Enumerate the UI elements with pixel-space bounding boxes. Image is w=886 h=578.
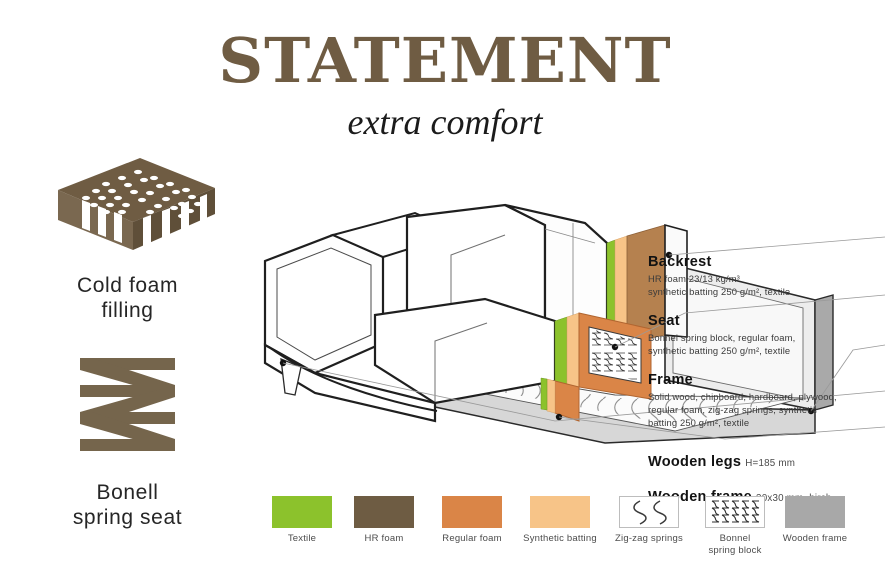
page-subtitle: extra comfort	[200, 104, 690, 140]
feature-cold-foam: Cold foam filling	[10, 150, 245, 324]
legend-label-line-1: Bonnel	[690, 533, 780, 545]
feature-caption-bonell: Bonell spring seat	[10, 481, 245, 531]
legend-label: Regular foam	[436, 533, 508, 545]
callout-body: Bonnel spring block, regular foam, synth…	[648, 331, 880, 358]
feature-caption-cold-foam: Cold foam filling	[10, 274, 245, 324]
legend-label: Textile	[272, 533, 332, 545]
infographic-page: STATEMENT extra comfort	[0, 0, 886, 578]
legend-item-zigzag-springs: Zig-zag springs	[606, 496, 692, 545]
callout-title: Frame	[648, 371, 880, 389]
feature-caption-line-2: filling	[10, 299, 245, 324]
legend-label: Bonnel spring block	[690, 533, 780, 557]
textile-swatch	[272, 496, 332, 528]
callout-line: synthetic batting 250 g/m², textile	[648, 344, 880, 357]
feature-caption-line-1: Cold foam	[10, 274, 245, 299]
callout-line: regular foam, zig-zag springs, synthetic	[648, 403, 880, 416]
callout-seat: Seat Bonnel spring block, regular foam, …	[648, 312, 880, 358]
synthetic-batting-swatch	[530, 496, 590, 528]
legend-item-hr-foam: HR foam	[354, 496, 414, 545]
legend-label-line-2: spring block	[690, 545, 780, 557]
zigzag-spring-icon	[10, 352, 245, 467]
callout-body: Solid wood, chipboard, hardboard, plywoo…	[648, 390, 880, 430]
legend-label: Wooden frame	[768, 533, 862, 545]
callout-line: Bonnel spring block, regular foam,	[648, 331, 880, 344]
legend-item-bonnel-spring-block: Bonnel spring block	[690, 496, 780, 557]
wooden-frame-swatch	[785, 496, 845, 528]
callout-title: Backrest	[648, 253, 880, 271]
callout-line: synthetic batting 250 g/m², textile	[648, 285, 880, 298]
feature-caption-line-2: spring seat	[10, 506, 245, 531]
title-block: STATEMENT extra comfort	[200, 30, 690, 140]
callout-body: HR foam 23/13 kg/m³ synthetic batting 25…	[648, 272, 880, 299]
callout-title: Wooden legs	[648, 454, 741, 470]
legend-item-synthetic-batting: Synthetic batting	[518, 496, 602, 545]
callout-line: Solid wood, chipboard, hardboard, plywoo…	[648, 390, 880, 403]
callout-line: batting 250 g/m², textile	[648, 416, 880, 429]
page-title: STATEMENT	[200, 30, 690, 92]
zigzag-springs-swatch	[619, 496, 679, 528]
callout-wooden-legs: Wooden legsH=185 mm	[648, 453, 880, 471]
legend: Textile HR foam Regular foam Synthetic b…	[272, 496, 872, 558]
legend-item-regular-foam: Regular foam	[436, 496, 508, 545]
legend-item-wooden-frame: Wooden frame	[768, 496, 862, 545]
feature-bonell-spring: Bonell spring seat	[10, 352, 245, 531]
feature-caption-line-1: Bonell	[10, 481, 245, 506]
callout-detail: H=185 mm	[745, 458, 795, 469]
callout-list: Backrest HR foam 23/13 kg/m³ synthetic b…	[648, 253, 880, 523]
sofa-cutaway-diagram	[255, 195, 655, 425]
callout-line: HR foam 23/13 kg/m³	[648, 272, 880, 285]
legend-label: Synthetic batting	[518, 533, 602, 545]
legend-item-textile: Textile	[272, 496, 332, 545]
cold-foam-block-icon	[10, 150, 245, 260]
legend-label: Zig-zag springs	[606, 533, 692, 545]
callout-backrest: Backrest HR foam 23/13 kg/m³ synthetic b…	[648, 253, 880, 299]
callout-frame: Frame Solid wood, chipboard, hardboard, …	[648, 371, 880, 430]
regular-foam-swatch	[442, 496, 502, 528]
legend-label: HR foam	[354, 533, 414, 545]
hr-foam-swatch	[354, 496, 414, 528]
bonnel-spring-block-swatch	[705, 496, 765, 528]
callout-title: Seat	[648, 312, 880, 330]
